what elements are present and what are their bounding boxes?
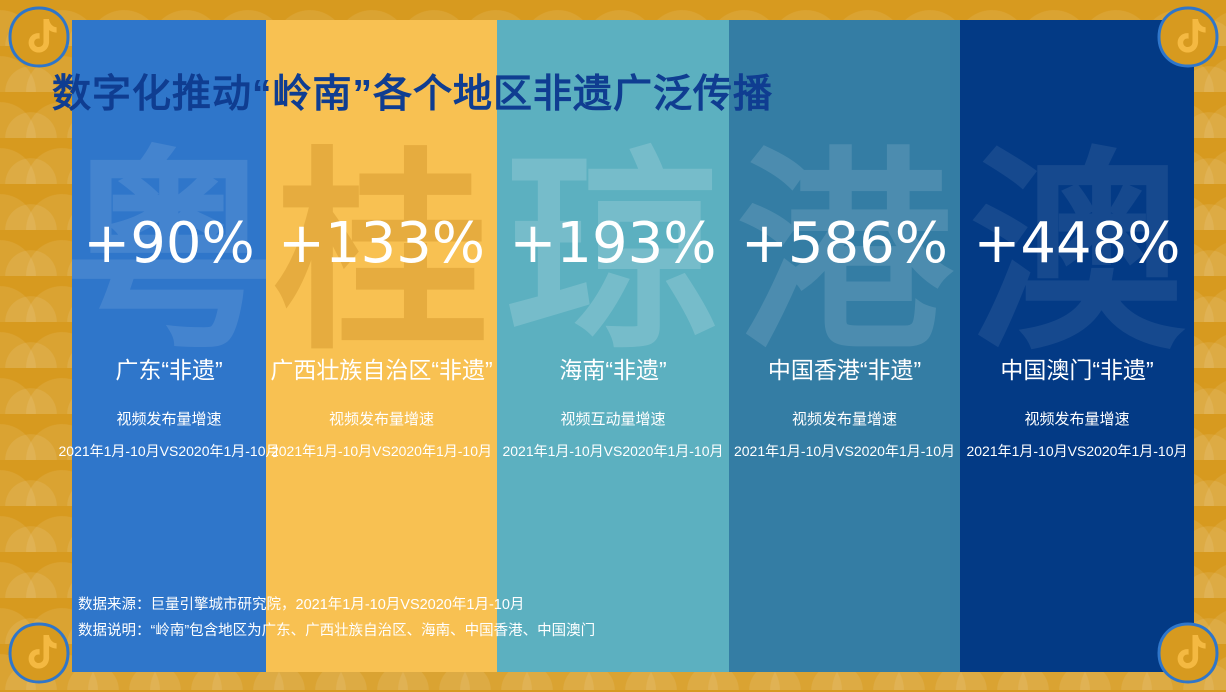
stat-value: +193% (509, 216, 716, 272)
stat-period-label: 2021年1月-10月VS2020年1月-10月 (59, 441, 280, 461)
stat-period-label: 2021年1月-10月VS2020年1月-10月 (502, 441, 723, 461)
douyin-logo-icon (8, 6, 70, 68)
stat-region-label: 广西壮族自治区“非遗” (270, 351, 492, 385)
footnotes: 数据来源：巨量引擎城市研究院，2021年1月-10月VS2020年1月-10月 … (78, 592, 595, 644)
stat-value: +133% (278, 216, 485, 272)
douyin-logo-icon (1157, 622, 1219, 684)
footnote-description: 数据说明：“岭南”包含地区为广东、广西壮族自治区、海南、中国香港、中国澳门 (78, 618, 595, 644)
stat-region-label: 海南“非遗” (559, 351, 666, 385)
stat-region-label: 中国澳门“非遗” (1000, 351, 1153, 385)
stat-region-label: 中国香港“非遗” (768, 351, 921, 385)
stat-value: +586% (741, 216, 948, 272)
page-title: 数字化推动“岭南”各个地区非遗广泛传播 (52, 63, 773, 119)
stat-value: +90% (83, 216, 254, 272)
stat-metric-label: 视频发布量增速 (792, 408, 897, 429)
stat-block-macau: +448% 中国澳门“非遗” 视频发布量增速 2021年1月-10月VS2020… (960, 20, 1194, 672)
douyin-logo-icon (8, 622, 70, 684)
stat-period-label: 2021年1月-10月VS2020年1月-10月 (966, 441, 1187, 461)
stat-metric-label: 视频互动量增速 (560, 408, 665, 429)
footnote-source: 数据来源：巨量引擎城市研究院，2021年1月-10月VS2020年1月-10月 (78, 592, 595, 618)
stat-value: +448% (973, 216, 1180, 272)
stat-metric-label: 视频发布量增速 (1024, 408, 1129, 429)
stat-period-label: 2021年1月-10月VS2020年1月-10月 (734, 441, 955, 461)
stat-region-label: 广东“非遗” (115, 351, 222, 385)
stat-metric-label: 视频发布量增速 (116, 408, 221, 429)
stat-period-label: 2021年1月-10月VS2020年1月-10月 (271, 441, 492, 461)
douyin-logo-icon (1157, 6, 1219, 68)
infographic-poster: 粤 桂 琼 港 澳 数字化推动“岭南”各个地区非遗广泛传播 +90% 广东“非遗… (0, 0, 1226, 692)
stat-metric-label: 视频发布量增速 (329, 408, 434, 429)
